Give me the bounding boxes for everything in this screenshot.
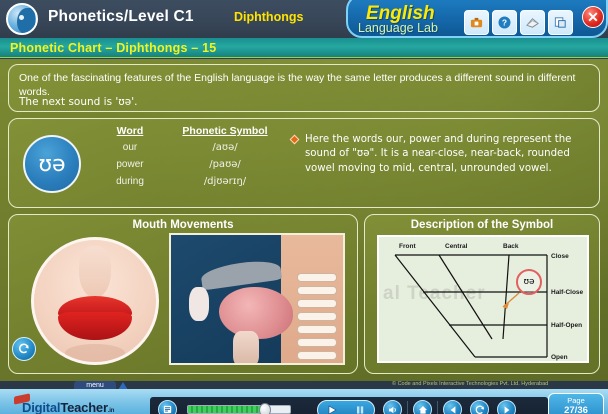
vertebrae-shapes (289, 273, 341, 361)
previous-icon[interactable] (443, 400, 462, 414)
chin-shape (65, 344, 125, 362)
table-row: during /djʊərɪŋ/ (94, 173, 284, 190)
chart-row-label-close: Close (551, 253, 569, 260)
briefcase-icon[interactable] (464, 10, 489, 35)
logo-word-digital: Digital (22, 400, 60, 414)
progress-fill (188, 406, 263, 413)
cell-word: our (94, 139, 166, 156)
notes-icon[interactable] (548, 10, 573, 35)
help-icon[interactable]: ? (492, 10, 517, 35)
column-header-phonetic-symbol: Phonetic Symbol (166, 123, 284, 139)
copyright-text: © Code and Pixels Interactive Technologi… (392, 381, 548, 387)
control-divider (437, 401, 438, 414)
replay-icon[interactable] (12, 337, 36, 361)
diamond-bullet-icon (290, 135, 300, 145)
cell-symbol: /paʊə/ (166, 156, 284, 173)
nose-shape (79, 246, 111, 298)
chart-row-label-half-close: Half-Close (551, 289, 583, 296)
app-logo-icon (6, 3, 38, 35)
symbol-description-text: Here the words our, power and during rep… (305, 133, 591, 176)
symbol-description-panel: Description of the Symbol al Teacher (364, 214, 600, 374)
page-indicator: Page 27/36 (548, 393, 604, 414)
footer-replay-icon[interactable] (470, 400, 489, 414)
symbol-description-block: Here the words our, power and during rep… (291, 133, 591, 176)
vocal-tract-diagram (169, 233, 345, 365)
breadcrumb: Phonetic Chart – Diphthongs – 15 (10, 41, 216, 55)
cell-word: power (94, 156, 166, 173)
play-pause-control[interactable] (317, 400, 375, 414)
page-number: 27/36 (549, 406, 603, 414)
logo-word-teacher: Teacher (60, 400, 108, 414)
logo-suffix: .in (108, 408, 114, 414)
control-divider (407, 401, 408, 414)
home-icon[interactable] (413, 400, 432, 414)
pause-icon (354, 404, 366, 414)
column-header-word: Word (94, 123, 166, 139)
play-icon (326, 404, 338, 414)
chart-col-label-front: Front (399, 243, 416, 250)
brand-subtitle-language-lab: Language Lab (358, 22, 438, 35)
breadcrumb-bar: Phonetic Chart – Diphthongs – 15 (0, 38, 608, 58)
book-icon[interactable] (520, 10, 545, 35)
diphthong-symbol-badge: ʊə (23, 135, 81, 193)
tongue-shape (219, 287, 293, 339)
next-icon[interactable] (497, 400, 516, 414)
chart-title: Description of the Symbol (365, 219, 599, 231)
progress-slider[interactable] (187, 405, 291, 414)
intro-panel: One of the fascinating features of the E… (8, 64, 600, 112)
app-header: Phonetics/Level C1 Diphthongs English La… (0, 0, 608, 38)
table-row: our /aʊə/ (94, 139, 284, 156)
footer-strip: DigitalTeacher.in (0, 389, 608, 414)
close-icon[interactable]: ✕ (582, 6, 604, 28)
playlist-icon[interactable] (158, 400, 177, 414)
lips-shape (189, 287, 209, 321)
chart-col-label-back: Back (503, 243, 519, 250)
intro-text-line-2: The next sound is 'ʊə'. (19, 95, 137, 109)
mouth-movements-panel: Mouth Movements (8, 214, 358, 374)
table-row: power /paʊə/ (94, 156, 284, 173)
cell-word: during (94, 173, 166, 190)
mouth-movements-title: Mouth Movements (9, 219, 357, 231)
lesson-stage: One of the fascinating features of the E… (0, 59, 608, 381)
header-button-group: ? (464, 10, 573, 35)
brand-panel: English Language Lab ? (346, 0, 608, 38)
chart-highlighted-symbol: ʊə (516, 269, 542, 295)
cell-symbol: /djʊərɪŋ/ (166, 173, 284, 190)
lower-lip-shape (58, 312, 132, 340)
word-examples-panel: ʊə Word Phonetic Symbol our /aʊə/ power … (8, 118, 600, 208)
footer-bar: © Code and Pixels Interactive Technologi… (0, 381, 608, 414)
page-title: Phonetics/Level C1 (48, 8, 194, 26)
vowel-quadrilateral-chart: al Teacher (377, 235, 589, 363)
chart-row-label-half-open: Half-Open (551, 322, 582, 329)
word-table: Word Phonetic Symbol our /aʊə/ power /pa… (94, 123, 284, 190)
topic-label: Diphthongs (234, 10, 303, 24)
svg-text:?: ? (502, 18, 507, 28)
chart-row-label-open: Open (551, 354, 568, 361)
slider-thumb[interactable] (259, 403, 271, 414)
volume-icon[interactable] (383, 400, 402, 414)
mouth-animation-image (31, 237, 159, 365)
chart-col-label-central: Central (445, 243, 467, 250)
cell-symbol: /aʊə/ (166, 139, 284, 156)
throat-shape (233, 331, 259, 365)
digital-teacher-logo: DigitalTeacher.in (22, 400, 114, 414)
table-header-row: Word Phonetic Symbol (94, 123, 284, 139)
phonetics-lesson-screen: Phonetics/Level C1 Diphthongs English La… (0, 0, 608, 414)
media-control-bar (150, 397, 548, 414)
